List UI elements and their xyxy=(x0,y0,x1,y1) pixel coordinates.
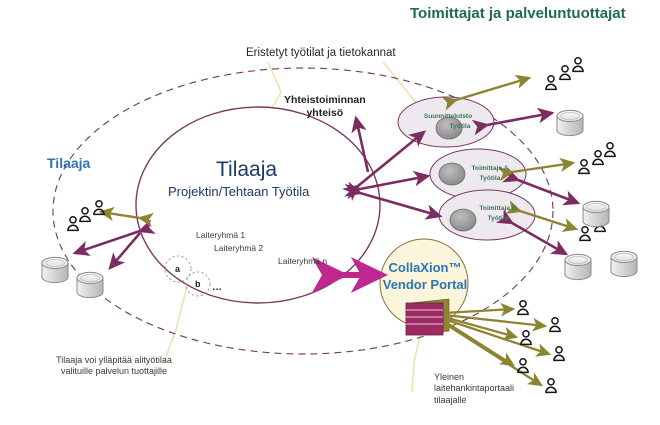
portal-title-line2[interactable]: Vendor Portal xyxy=(378,277,472,293)
portal-title-line1[interactable]: CollaXion™ xyxy=(382,260,468,276)
page-title-suppliers: Toimittajat ja palveluntuottajat xyxy=(410,5,626,24)
supplier-workspace-1-line2: Työtila xyxy=(450,175,530,183)
supplier-workspace-1-line1: Toimittaja A xyxy=(450,165,530,173)
main-workspace-title: Tilaaja xyxy=(216,157,277,183)
client-label: Tilaaja xyxy=(47,155,90,173)
server-rack-icon xyxy=(406,299,449,335)
diagram-canvas: Toimittajat ja palveluntuottajat Tilaaja… xyxy=(0,0,660,425)
sub-workspace-b-label: b xyxy=(195,279,201,290)
annotation-collaboration-community: Yhteistoiminnan yhteisö xyxy=(284,94,366,120)
supplier-workspace-2-line1: Toimittaja B xyxy=(458,205,538,213)
annotation-subworkspace-note: Tilaaja voi ylläpitää alityötilaa valitu… xyxy=(14,355,214,378)
annotation-procurement-note: Yleinen laitehankintaportaali tilaajalle xyxy=(434,372,514,406)
annotation-isolated-workspaces: Eristetyt työtilat ja tietokannat xyxy=(246,46,396,60)
sub-workspace-more-label: … xyxy=(212,282,222,295)
supplier-workspace-0-line1: Suunnittelutsto xyxy=(408,113,488,121)
device-group-2: Laiteryhmä 2 xyxy=(214,243,263,254)
supplier-workspace-2-line2: Työtila xyxy=(458,215,538,223)
device-group-n: Laiteryhmä n xyxy=(278,256,327,267)
supplier-workspace-0-line2: Työtila xyxy=(420,123,500,131)
main-workspace-subtitle: Projektin/Tehtaan Työtila xyxy=(168,184,309,200)
device-group-1: Laiteryhmä 1 xyxy=(196,230,245,241)
sub-workspace-a-label: a xyxy=(175,264,180,275)
